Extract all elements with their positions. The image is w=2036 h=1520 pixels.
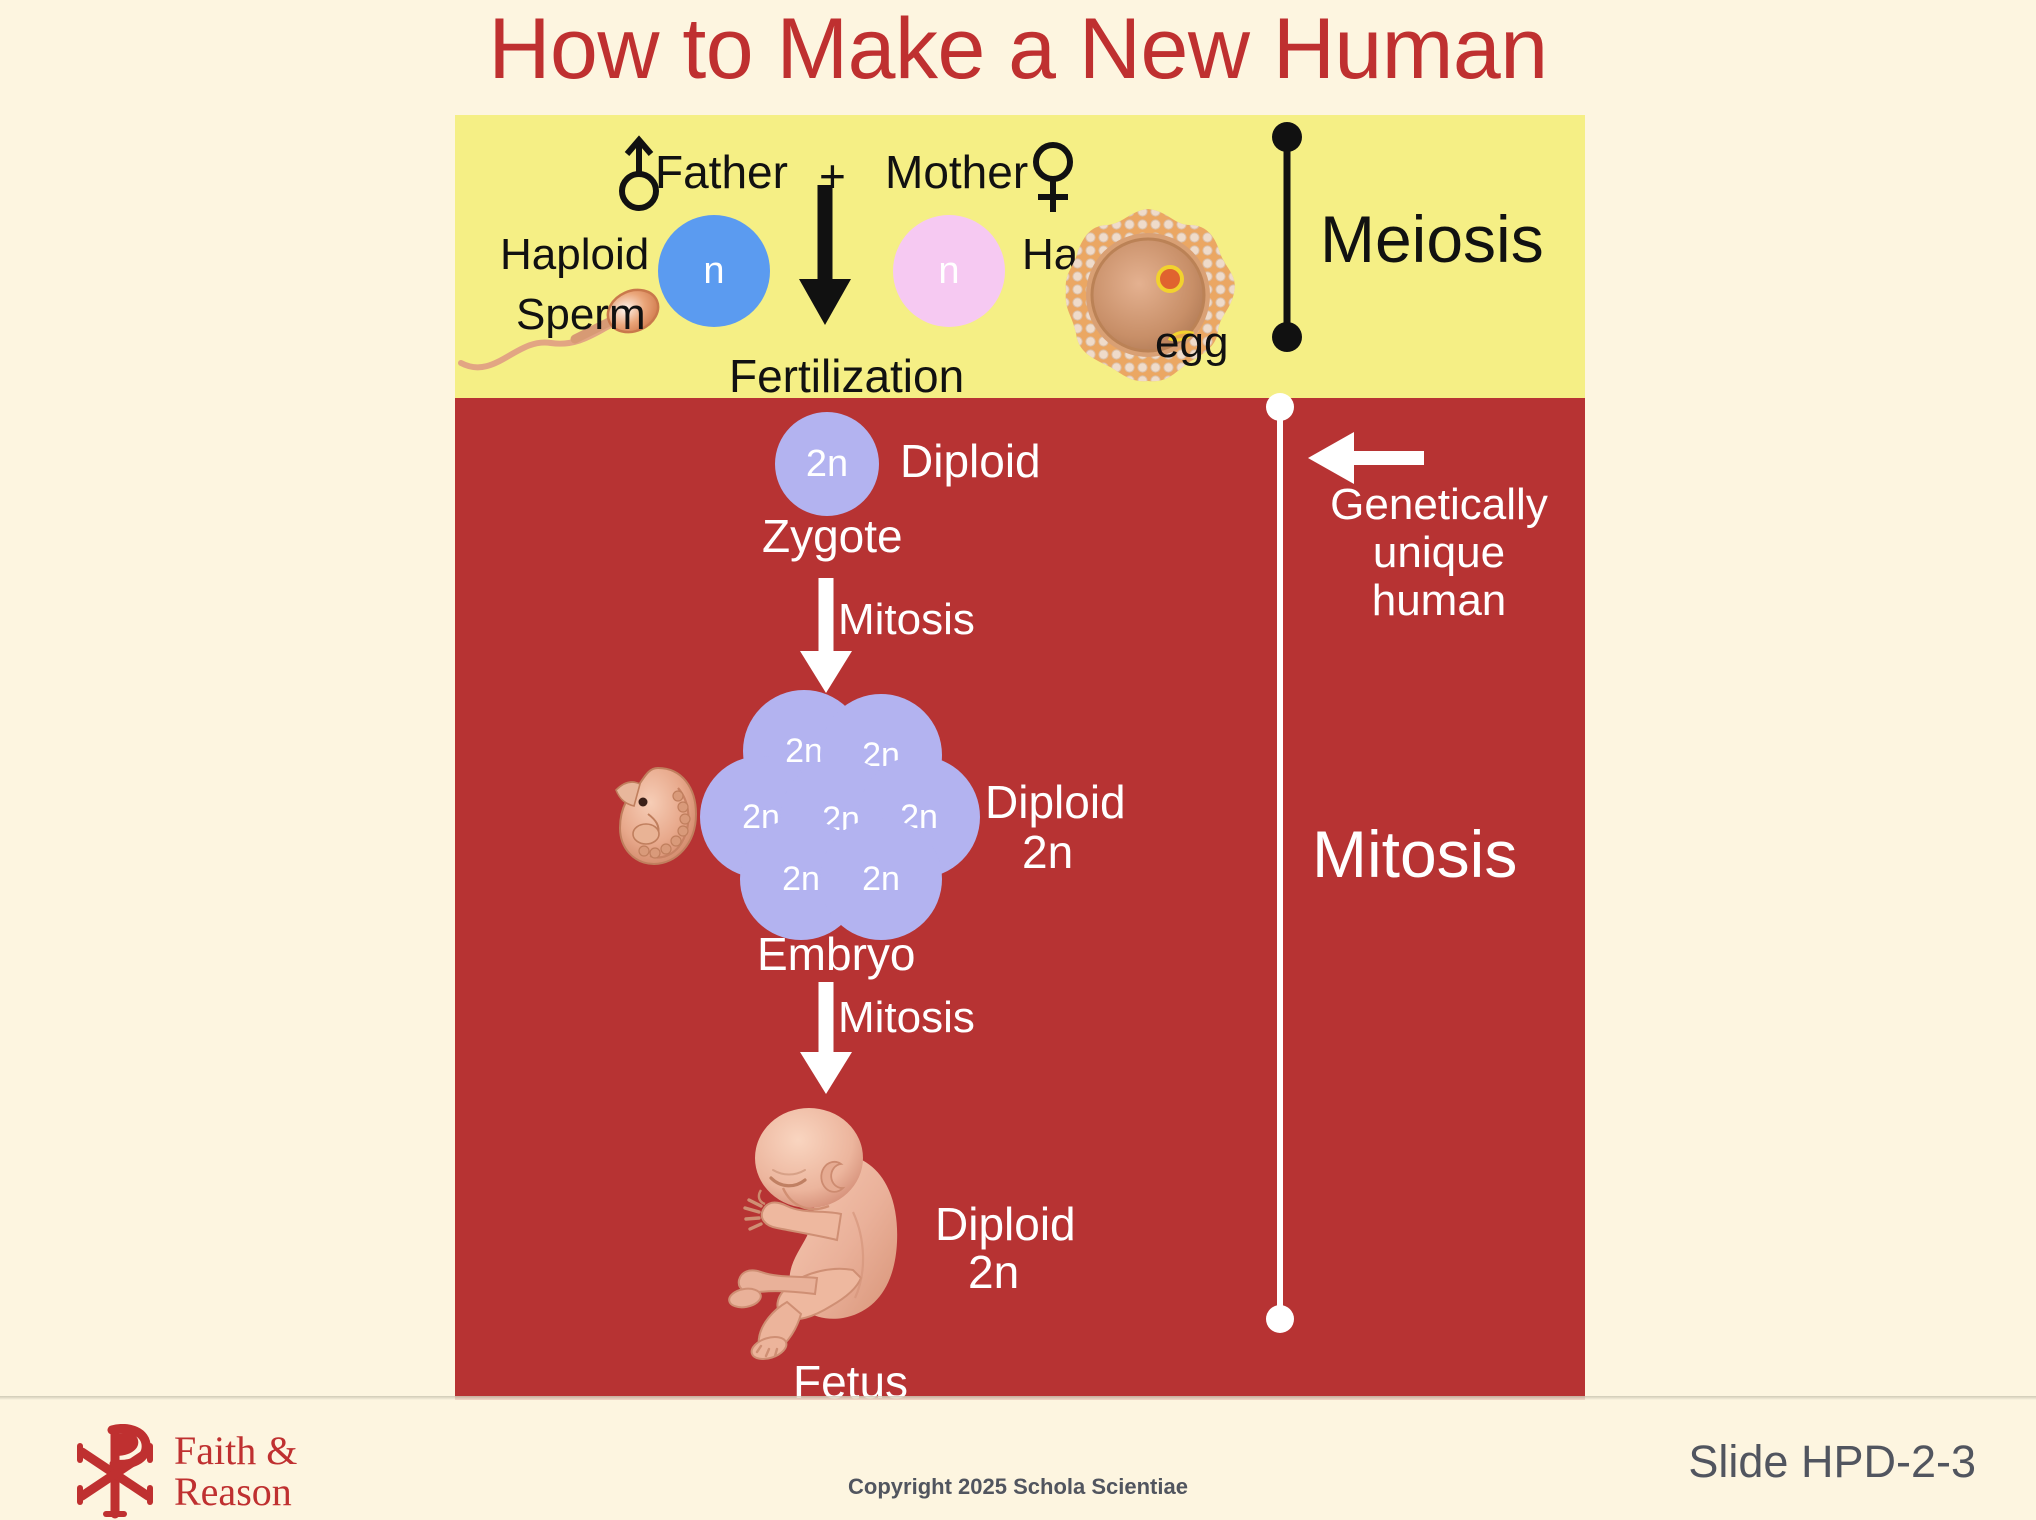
- embryo-cell: 2n: [820, 818, 942, 940]
- embryo-ploidy-value: 2n: [1022, 828, 1073, 876]
- logo-line-1: Faith &: [174, 1431, 297, 1472]
- annotation-line-3: human: [1330, 578, 1548, 624]
- egg-nucleus-value: n: [938, 250, 959, 293]
- zygote-cell: 2n: [775, 412, 879, 516]
- embryo-cell-cluster: 2n 2n 2n 2n 2n 2n 2n: [700, 690, 970, 940]
- zygote-ploidy-label: Diploid: [900, 437, 1041, 485]
- annotation-line-1: Genetically: [1330, 482, 1548, 528]
- fertilization-label: Fertilization: [729, 352, 964, 400]
- brand-logo: Faith & Reason: [72, 1424, 297, 1520]
- sperm-nucleus-value: n: [703, 250, 724, 293]
- mitosis-bracket: [1266, 393, 1294, 1333]
- zygote-cell-value: 2n: [806, 443, 848, 486]
- father-label: Father: [655, 148, 788, 196]
- footer-divider: [0, 1396, 2036, 1400]
- page-title: How to Make a New Human: [0, 6, 2036, 92]
- haploid-label-sperm: Haploid: [500, 232, 649, 278]
- fetus-ploidy-value: 2n: [968, 1248, 1019, 1296]
- fertilization-arrow-icon: [799, 185, 851, 325]
- early-embryo-icon: [612, 762, 704, 872]
- chi-rho-icon: [72, 1424, 158, 1520]
- fetus-ploidy-label: Diploid: [935, 1200, 1076, 1248]
- embryo-ploidy-label: Diploid: [985, 778, 1126, 826]
- slide-number: Slide HPD-2-3: [1688, 1436, 1976, 1488]
- sperm-label: Sperm: [516, 292, 646, 338]
- meiosis-bracket: [1272, 122, 1302, 352]
- zygote-stage-label: Zygote: [762, 512, 903, 560]
- mitosis-arrow-2-label: Mitosis: [838, 995, 975, 1041]
- meiosis-phase-label: Meiosis: [1320, 205, 1544, 274]
- egg-nucleus: n: [893, 215, 1005, 327]
- mitosis-phase-label: Mitosis: [1312, 820, 1517, 889]
- egg-label: egg: [1155, 320, 1228, 366]
- fetus-icon: [725, 1102, 945, 1362]
- mother-label: Mother: [885, 148, 1028, 196]
- embryo-stage-label: Embryo: [757, 930, 915, 978]
- annotation-line-2: unique: [1330, 530, 1548, 576]
- mitosis-arrow-1-label: Mitosis: [838, 597, 975, 643]
- genetically-unique-arrow-icon: [1308, 432, 1424, 484]
